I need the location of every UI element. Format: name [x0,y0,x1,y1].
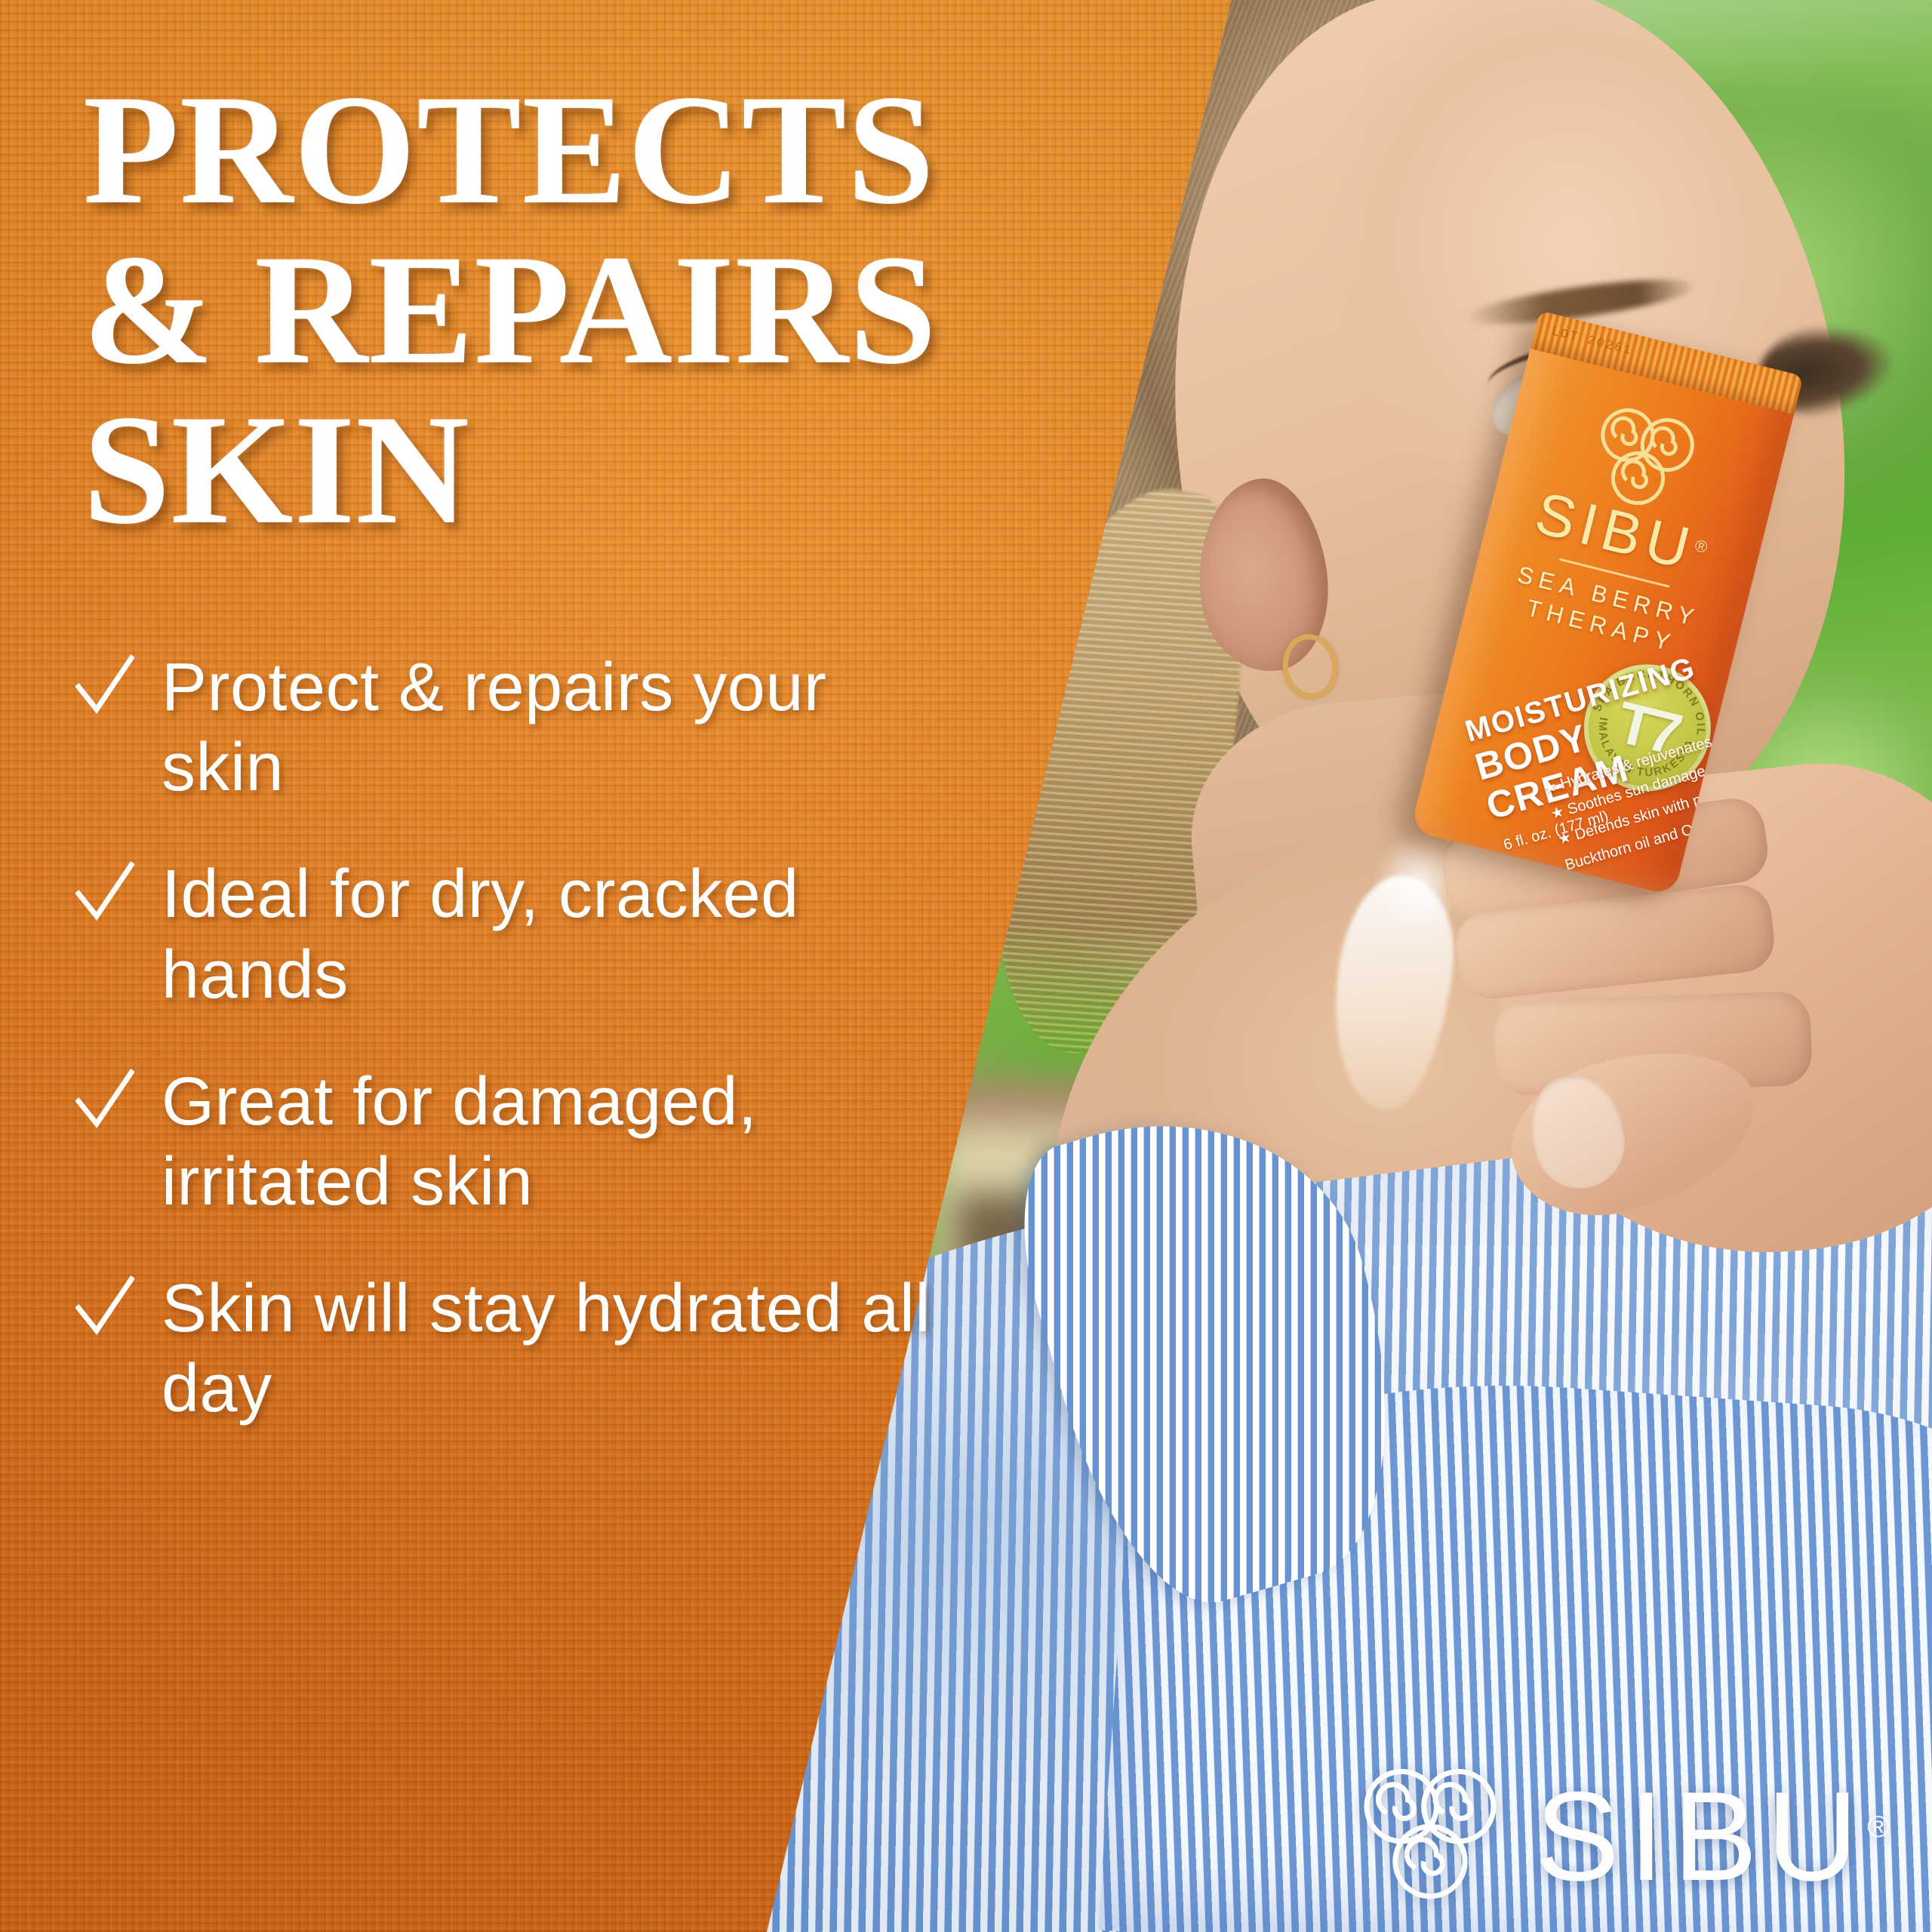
headline-line-3: SKIN [83,389,1049,549]
sibu-flower-logo-icon [1351,1762,1509,1909]
benefit-text: Ideal for dry, cracked hands [162,854,966,1014]
sibu-watermark-registered: ® [1867,1810,1889,1844]
page-title: PROTECTS & REPAIRS SKIN [83,69,1049,549]
list-item: Protect & repairs your skin [75,648,966,808]
checkmark-icon [75,1275,134,1344]
headline-line-2: & REPAIRS [83,229,1049,389]
checkmark-icon [75,1068,134,1137]
checkmark-icon [75,654,134,723]
benefit-text: Skin will stay hydrated all day [162,1269,966,1429]
benefit-text: Great for damaged, irritated skin [162,1062,966,1222]
tube-registered-mark: ® [1693,536,1715,558]
benefit-text: Protect & repairs your skin [162,648,966,808]
list-item: Great for damaged, irritated skin [75,1062,966,1222]
checkmark-icon [75,860,134,930]
benefits-list: Protect & repairs your skin Ideal for dr… [75,648,966,1476]
marketing-creative: LOT 20261 SIBU® SEA BERRY THER [0,0,1932,1932]
sibu-watermark-wordmark: SIBU® [1535,1773,1890,1900]
list-item: Skin will stay hydrated all day [75,1269,966,1429]
headline-line-1: PROTECTS [83,69,1049,229]
sibu-watermark: SIBU® [1351,1762,1890,1909]
sibu-watermark-text: SIBU [1535,1765,1867,1907]
list-item: Ideal for dry, cracked hands [75,854,966,1014]
